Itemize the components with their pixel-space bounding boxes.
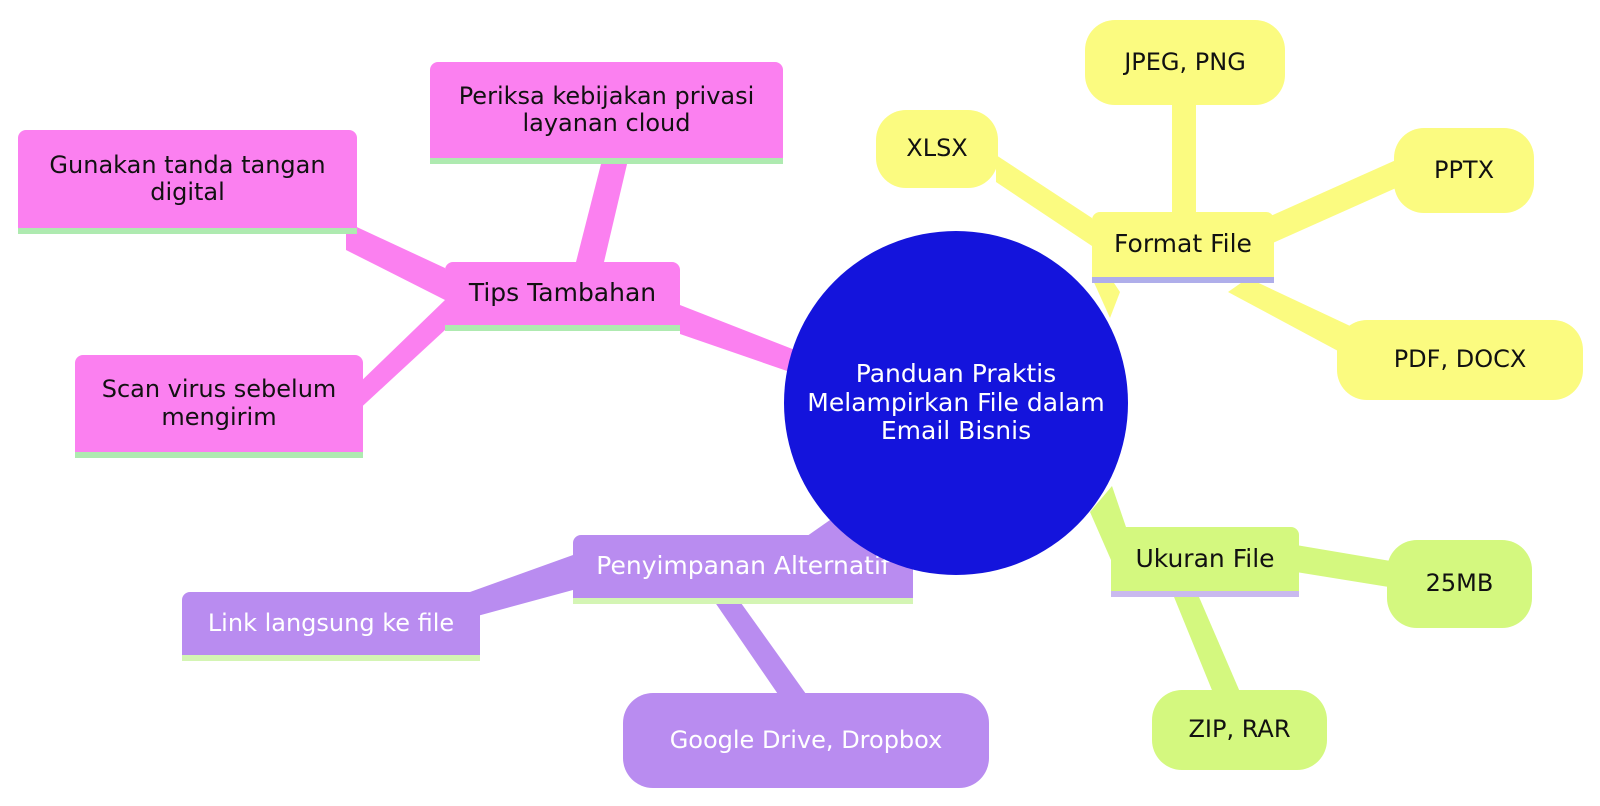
root-node-label: Panduan Praktis Melampirkan File dalam E… <box>794 360 1118 446</box>
connector-format-to-jpeg <box>1172 100 1196 212</box>
branch-node-penyimpanan-alternatif-underline <box>573 598 913 604</box>
leaf-node-25mb-label: 25MB <box>1397 570 1522 597</box>
leaf-node-scan-virus-sebelum-mengirim[interactable]: Scan virus sebelum mengirim <box>75 355 363 452</box>
connector-tips-to-periksa <box>576 160 628 262</box>
connector-tips-to-scan <box>354 300 445 414</box>
leaf-node-jpeg-png[interactable]: JPEG, PNG <box>1085 20 1285 105</box>
leaf-node-scan-virus-sebelum-mengirim-underline <box>75 452 363 458</box>
leaf-node-gunakan-tanda-tangan-digital-underline <box>18 228 357 234</box>
leaf-node-xlsx[interactable]: XLSX <box>876 110 998 188</box>
branch-node-ukuran-file-underline <box>1111 591 1299 597</box>
leaf-node-jpeg-png-label: JPEG, PNG <box>1095 49 1275 76</box>
mindmap-canvas: Panduan Praktis Melampirkan File dalam E… <box>0 0 1600 806</box>
connector-format-to-xlsx <box>996 155 1092 246</box>
leaf-node-zip-rar[interactable]: ZIP, RAR <box>1152 690 1327 770</box>
leaf-node-xlsx-label: XLSX <box>886 135 988 162</box>
leaf-node-google-drive-dropbox-label: Google Drive, Dropbox <box>633 727 979 754</box>
leaf-node-gunakan-tanda-tangan-digital[interactable]: Gunakan tanda tangan digital <box>18 130 357 228</box>
leaf-node-link-langsung[interactable]: Link langsung ke file <box>182 592 480 655</box>
connector-penyimpanan-to-link <box>470 555 573 618</box>
leaf-node-periksa-kebijakan-privasi-label: Periksa kebijakan privasi layanan cloud <box>440 83 773 138</box>
branch-node-tips-tambahan-label: Tips Tambahan <box>455 279 670 308</box>
connector-root-to-tips <box>680 305 795 372</box>
connector-format-to-pptx <box>1266 160 1396 246</box>
branch-node-ukuran-file[interactable]: Ukuran File <box>1111 527 1299 591</box>
leaf-node-periksa-kebijakan-privasi-underline <box>430 158 783 164</box>
leaf-node-link-langsung-underline <box>182 655 480 661</box>
leaf-node-zip-rar-label: ZIP, RAR <box>1162 716 1317 743</box>
branch-node-tips-tambahan-underline <box>445 325 680 331</box>
root-node[interactable]: Panduan Praktis Melampirkan File dalam E… <box>784 231 1128 575</box>
leaf-node-pdf-docx[interactable]: PDF, DOCX <box>1337 320 1583 400</box>
connector-tips-to-gunakan <box>346 222 445 300</box>
branch-node-format-file-underline <box>1092 277 1274 283</box>
connector-ukuran-to-zip <box>1172 590 1240 700</box>
branch-node-penyimpanan-alternatif-label: Penyimpanan Alternatif <box>583 552 903 581</box>
branch-node-format-file[interactable]: Format File <box>1092 212 1274 277</box>
leaf-node-pptx-label: PPTX <box>1404 157 1524 184</box>
leaf-node-link-langsung-label: Link langsung ke file <box>192 610 470 637</box>
branch-node-format-file-label: Format File <box>1102 230 1264 259</box>
leaf-node-google-drive-dropbox[interactable]: Google Drive, Dropbox <box>623 693 989 788</box>
leaf-node-scan-virus-sebelum-mengirim-label: Scan virus sebelum mengirim <box>85 376 353 431</box>
branch-node-tips-tambahan[interactable]: Tips Tambahan <box>445 262 680 325</box>
leaf-node-pdf-docx-label: PDF, DOCX <box>1347 346 1573 373</box>
leaf-node-periksa-kebijakan-privasi[interactable]: Periksa kebijakan privasi layanan cloud <box>430 62 783 158</box>
leaf-node-25mb[interactable]: 25MB <box>1387 540 1532 628</box>
connector-penyimpanan-to-gdrive <box>712 596 806 700</box>
branch-node-ukuran-file-label: Ukuran File <box>1121 545 1289 574</box>
leaf-node-gunakan-tanda-tangan-digital-label: Gunakan tanda tangan digital <box>28 152 347 207</box>
leaf-node-pptx[interactable]: PPTX <box>1394 128 1534 213</box>
